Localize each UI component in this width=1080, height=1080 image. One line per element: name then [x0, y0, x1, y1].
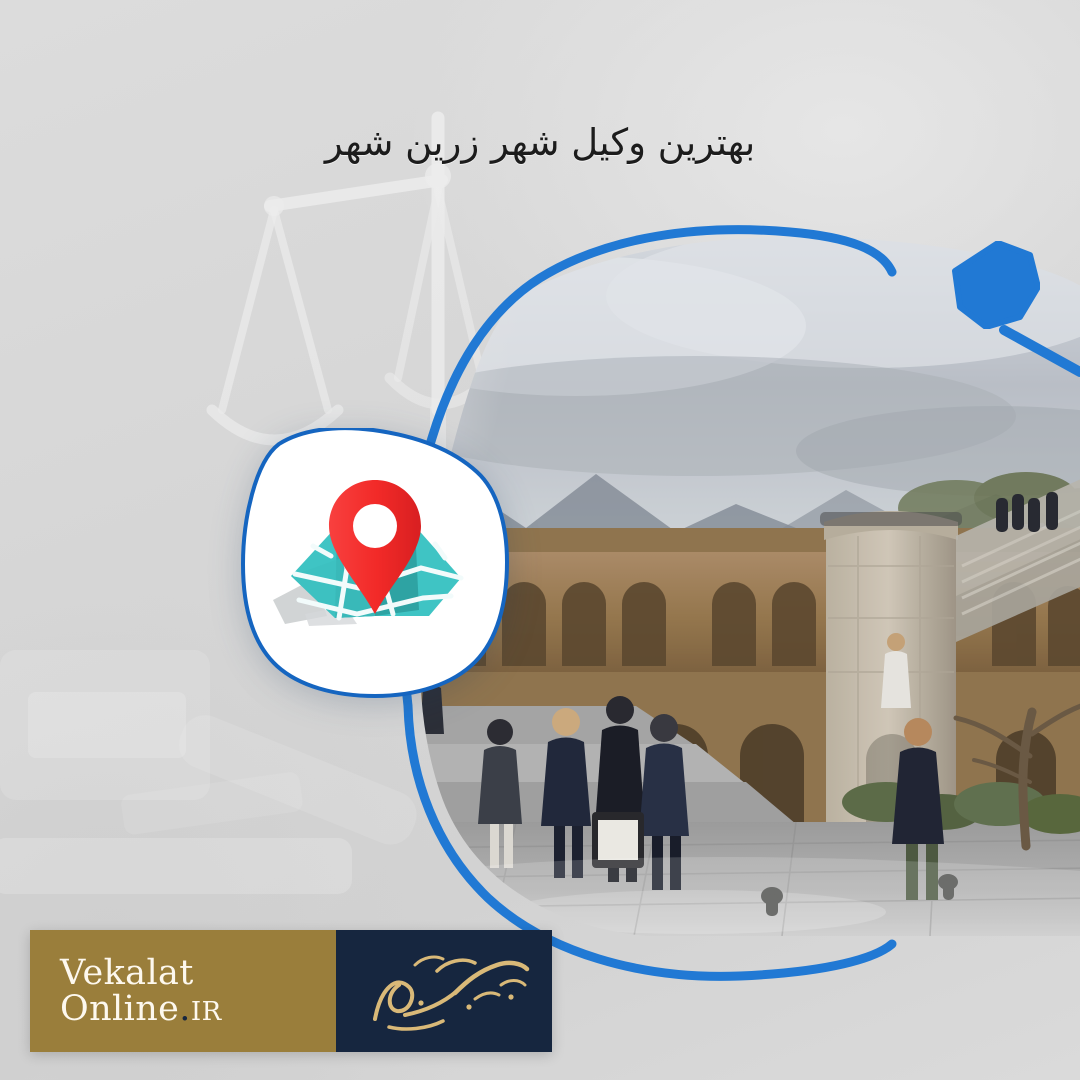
brand-logo[interactable]: Vekalat Online.IR [30, 930, 552, 1052]
blue-heptagon-icon [952, 241, 1040, 329]
map-location-card-graphic [239, 428, 511, 700]
logo-tld: IR [191, 997, 222, 1027]
logo-line-1: Vekalat [30, 955, 336, 991]
logo-site-name: Online [60, 989, 179, 1029]
logo-line-2: Online.IR [30, 991, 336, 1027]
poster-canvas: بهترین وکیل شهر زرین شهر [0, 0, 1080, 1080]
persian-calligraphy-icon [351, 941, 537, 1041]
page-title: بهترین وکیل شهر زرین شهر [0, 121, 1080, 164]
logo-wordmark: Vekalat Online.IR [30, 930, 336, 1052]
logo-dot: . [179, 989, 191, 1029]
map-location-card[interactable] [239, 428, 511, 700]
logo-mark-persian [336, 930, 552, 1052]
